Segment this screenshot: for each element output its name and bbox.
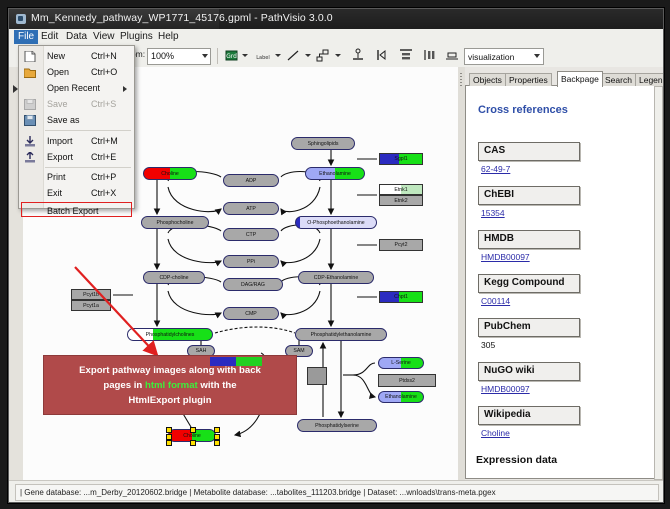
metabolite-label: Sphingolipids bbox=[308, 141, 339, 147]
chevron-down-icon bbox=[534, 54, 540, 58]
menu-item-import-accel: Ctrl+M bbox=[91, 136, 118, 146]
screenshot-root: Mm_Kennedy_pathway_WP1771_45176.gpml - P… bbox=[0, 0, 670, 509]
svg-text:Grd: Grd bbox=[226, 53, 237, 60]
menu-item-open-recent[interactable]: Open Recent bbox=[19, 81, 134, 96]
zoom-value: 100% bbox=[151, 51, 174, 61]
pathway-anchor-block[interactable] bbox=[307, 367, 327, 385]
xref-label-chebi: ChEBI bbox=[478, 186, 580, 205]
menu-item-exit-label: Exit bbox=[47, 188, 62, 198]
metabolite-label: Phosphocholine bbox=[157, 220, 194, 226]
annotation-line3: HtmlExport plugin bbox=[128, 395, 211, 406]
menu-item-save: Save Ctrl+S bbox=[19, 97, 134, 112]
xref-value-nugo[interactable]: HMDB00097 bbox=[481, 384, 530, 394]
menu-item-exit[interactable]: Exit Ctrl+X bbox=[19, 186, 134, 201]
selection-handle[interactable] bbox=[190, 427, 196, 433]
menu-item-print-accel: Ctrl+P bbox=[91, 172, 116, 182]
gene-node[interactable]: Ptdss2 bbox=[378, 374, 436, 387]
menu-plugins[interactable]: Plugins bbox=[116, 30, 157, 44]
align-top-icon[interactable] bbox=[351, 48, 365, 64]
legend-color-blue bbox=[210, 357, 236, 366]
gene-label: Pcyt2 bbox=[395, 242, 408, 248]
menu-item-open-label: Open bbox=[47, 67, 69, 77]
visualization-select[interactable]: visualization bbox=[464, 48, 544, 65]
new-file-icon bbox=[24, 51, 36, 62]
metabolite-node[interactable]: L-Serine bbox=[378, 357, 424, 369]
menu-item-new-label: New bbox=[47, 51, 65, 61]
pathvisio-icon bbox=[16, 14, 26, 24]
metabolite-node[interactable]: Choline bbox=[143, 167, 197, 180]
status-bar-text: | Gene database: ...m_Derby_20120602.bri… bbox=[20, 488, 496, 497]
selection-handle[interactable] bbox=[166, 440, 172, 446]
menu-item-export-accel: Ctrl+E bbox=[91, 152, 116, 162]
line-icon[interactable] bbox=[286, 48, 300, 64]
gene-node[interactable]: Sgpl1 bbox=[379, 153, 423, 165]
metabolite-label: PPi bbox=[247, 259, 255, 265]
metabolite-label: Choline bbox=[183, 433, 201, 439]
selection-handle[interactable] bbox=[166, 427, 172, 433]
metabolite-node[interactable]: PPi bbox=[223, 255, 279, 268]
menu-bar: File Edit Data View Plugins Help bbox=[9, 29, 663, 46]
gene-label: Ptdss2 bbox=[399, 378, 415, 384]
annotation-highlight: html format bbox=[145, 380, 198, 391]
metabolite-node[interactable]: CDP-Ethanolamine bbox=[298, 271, 374, 284]
sidebar-splitter[interactable] bbox=[458, 67, 465, 480]
xref-value-pubchem: 305 bbox=[481, 340, 495, 350]
menu-item-open-accel: Ctrl+O bbox=[91, 67, 117, 77]
metabolite-node[interactable]: O-Phosphoethanolamine bbox=[295, 216, 377, 229]
tab-backpage[interactable]: Backpage bbox=[557, 71, 603, 87]
metabolite-node[interactable]: Sphingolipids bbox=[291, 137, 355, 150]
backpage-content: Cross references CAS 62-49-7 ChEBI 15354… bbox=[465, 86, 658, 479]
xref-value-cas[interactable]: 62-49-7 bbox=[481, 164, 510, 174]
expression-data-heading: Expression data bbox=[476, 454, 557, 466]
status-bar-field: | Gene database: ...m_Derby_20120602.bri… bbox=[15, 484, 659, 501]
metabolite-label: O-Phosphoethanolamine bbox=[307, 220, 364, 226]
file-menu-popup: New Ctrl+N Open Ctrl+O Open Recent Save … bbox=[18, 45, 135, 209]
menu-separator bbox=[45, 130, 131, 131]
metabolite-label: SAH bbox=[196, 348, 207, 354]
cross-references-heading: Cross references bbox=[478, 104, 568, 116]
metabolite-label: DAG/RAG bbox=[241, 282, 265, 288]
metabolite-label: Ethanolamine bbox=[385, 394, 417, 400]
metabolite-node[interactable]: CTP bbox=[223, 228, 279, 241]
annotation-line1: Export pathway images along with back bbox=[79, 365, 261, 376]
xref-label-cas: CAS bbox=[478, 142, 580, 161]
pathvisio-window: Mm_Kennedy_pathway_WP1771_45176.gpml - P… bbox=[8, 8, 664, 503]
sidebar-panel: Objects Properties Backpage Search Legen… bbox=[458, 67, 663, 480]
export-icon bbox=[24, 152, 36, 163]
gene-label: Etnk1 bbox=[394, 187, 407, 193]
selection-handle[interactable] bbox=[166, 434, 172, 440]
menu-item-save-label: Save bbox=[47, 99, 68, 109]
xref-value-wikipedia[interactable]: Choline bbox=[481, 428, 510, 438]
menu-item-save-as[interactable]: Save as bbox=[19, 113, 134, 128]
metabolite-node[interactable]: ATP bbox=[223, 202, 279, 215]
menu-item-exit-accel: Ctrl+X bbox=[91, 188, 116, 198]
tab-legend[interactable]: Legend bbox=[635, 73, 664, 87]
xref-label-hmdb: HMDB bbox=[478, 230, 580, 249]
toolbar-separator bbox=[217, 48, 218, 64]
metabolite-node[interactable]: Phosphocholine bbox=[141, 216, 209, 229]
status-bar: | Gene database: ...m_Derby_20120602.bri… bbox=[9, 480, 663, 503]
svg-text:Label: Label bbox=[256, 55, 270, 61]
metabolite-label: CTP bbox=[246, 232, 256, 238]
save-disk-icon bbox=[24, 99, 36, 110]
menu-item-import-label: Import bbox=[47, 136, 73, 146]
save-as-icon bbox=[24, 115, 36, 126]
tab-properties[interactable]: Properties bbox=[505, 73, 552, 87]
metabolite-node[interactable]: Phosphatidylethanolamine bbox=[295, 328, 387, 341]
metabolite-label: Ethanolamine bbox=[319, 171, 351, 177]
align-left-icon[interactable] bbox=[375, 48, 389, 64]
sidebar-tabstrip: Objects Properties Backpage Search Legen… bbox=[465, 71, 663, 86]
batch-export-highlight-box bbox=[21, 202, 132, 217]
menu-item-import[interactable]: Import Ctrl+M bbox=[19, 134, 134, 149]
menu-item-export[interactable]: Export Ctrl+E bbox=[19, 150, 134, 165]
menu-file[interactable]: File bbox=[14, 30, 38, 44]
menu-view[interactable]: View bbox=[89, 30, 119, 44]
grid-dropdown-caret-icon[interactable] bbox=[242, 54, 248, 57]
metabolite-node[interactable]: Ethanolamine bbox=[305, 167, 365, 180]
menu-item-new-accel: Ctrl+N bbox=[91, 51, 117, 61]
window-title: Mm_Kennedy_pathway_WP1771_45176.gpml - P… bbox=[31, 12, 333, 24]
menu-data[interactable]: Data bbox=[62, 30, 91, 44]
connector-dropdown-caret-icon[interactable] bbox=[335, 54, 341, 57]
import-icon bbox=[24, 136, 36, 147]
annotation-arrow bbox=[71, 263, 181, 363]
chevron-down-icon bbox=[202, 54, 208, 58]
gene-label: Etnk2 bbox=[394, 198, 407, 204]
metabolite-label: SAM bbox=[293, 348, 304, 354]
distribute-horizontal-icon[interactable] bbox=[423, 48, 437, 64]
sidebar-scrollbar[interactable] bbox=[654, 86, 663, 480]
annotation-line2-after: with the bbox=[198, 380, 237, 391]
gene-node[interactable]: Etnk2 bbox=[379, 195, 423, 206]
submenu-arrow-icon bbox=[123, 86, 127, 92]
menu-item-save-accel: Ctrl+S bbox=[91, 99, 116, 109]
xref-label-pubchem: PubChem bbox=[478, 318, 580, 337]
metabolite-node[interactable]: DAG/RAG bbox=[223, 278, 283, 291]
open-folder-icon bbox=[24, 67, 36, 78]
annotation-line2-before: pages in bbox=[103, 380, 145, 391]
distribute-vertical-icon[interactable] bbox=[399, 48, 413, 64]
metabolite-node[interactable]: Phosphatidylserine bbox=[297, 419, 377, 432]
connector-icon[interactable] bbox=[316, 48, 330, 64]
metabolite-label: Phosphatidylethanolamine bbox=[311, 332, 372, 338]
selection-handle[interactable] bbox=[214, 427, 220, 433]
menu-item-open[interactable]: Open Ctrl+O bbox=[19, 65, 134, 80]
menu-item-print[interactable]: Print Ctrl+P bbox=[19, 170, 134, 185]
common-width-icon[interactable] bbox=[445, 48, 459, 64]
annotation-text: Export pathway images along with back pa… bbox=[73, 363, 267, 408]
tab-search[interactable]: Search bbox=[601, 73, 636, 87]
xref-value-hmdb[interactable]: HMDB00097 bbox=[481, 252, 530, 262]
menu-help[interactable]: Help bbox=[154, 30, 183, 44]
metabolite-label: CDP-Ethanolamine bbox=[314, 275, 358, 281]
menu-item-export-label: Export bbox=[47, 152, 73, 162]
xref-label-kegg: Kegg Compound bbox=[478, 274, 580, 293]
metabolite-node[interactable]: Ethanolamine bbox=[378, 391, 424, 403]
xref-label-wikipedia: Wikipedia bbox=[478, 406, 580, 425]
legend-color-green bbox=[236, 357, 262, 366]
metabolite-node[interactable]: ADP bbox=[223, 174, 279, 187]
gene-node[interactable]: Pcyt2 bbox=[379, 239, 423, 251]
visualization-value: visualization bbox=[468, 52, 514, 62]
metabolite-label: CMP bbox=[245, 311, 257, 317]
menu-separator bbox=[45, 167, 131, 168]
metabolite-label: Phosphatidylserine bbox=[315, 423, 359, 429]
metabolite-label: Choline bbox=[161, 171, 179, 177]
splitter-grip-icon bbox=[460, 73, 462, 87]
xref-value-chebi[interactable]: 15354 bbox=[481, 208, 505, 218]
metabolite-node[interactable]: CMP bbox=[223, 307, 279, 320]
metabolite-label: ADP bbox=[246, 178, 257, 184]
gene-node[interactable]: Chpt1 bbox=[379, 291, 423, 303]
line-dropdown-caret-icon[interactable] bbox=[305, 54, 311, 57]
selection-handle[interactable] bbox=[190, 440, 196, 446]
menu-item-open-recent-label: Open Recent bbox=[47, 83, 100, 93]
menu-item-save-as-label: Save as bbox=[47, 115, 80, 125]
tab-objects[interactable]: Objects bbox=[469, 73, 506, 87]
metabolite-label: L-Serine bbox=[391, 360, 411, 366]
label-dropdown-caret-icon[interactable] bbox=[275, 54, 281, 57]
gene-label: Chpt1 bbox=[394, 294, 408, 300]
xref-label-nugo: NuGO wiki bbox=[478, 362, 580, 381]
menu-item-print-label: Print bbox=[47, 172, 66, 182]
zoom-select[interactable]: 100% bbox=[147, 48, 211, 65]
metabolite-label: ATP bbox=[246, 206, 256, 212]
title-bar: Mm_Kennedy_pathway_WP1771_45176.gpml - P… bbox=[9, 9, 663, 30]
selection-handle[interactable] bbox=[214, 434, 220, 440]
gene-label: Sgpl1 bbox=[394, 156, 407, 162]
xref-value-kegg[interactable]: C00114 bbox=[481, 296, 510, 306]
menu-edit[interactable]: Edit bbox=[37, 30, 62, 44]
grid-icon[interactable]: Grd bbox=[225, 48, 239, 64]
label-icon[interactable]: Label bbox=[253, 48, 273, 64]
selection-handle[interactable] bbox=[214, 440, 220, 446]
menu-item-new[interactable]: New Ctrl+N bbox=[19, 49, 134, 64]
gene-node[interactable]: Etnk1 bbox=[379, 184, 423, 195]
